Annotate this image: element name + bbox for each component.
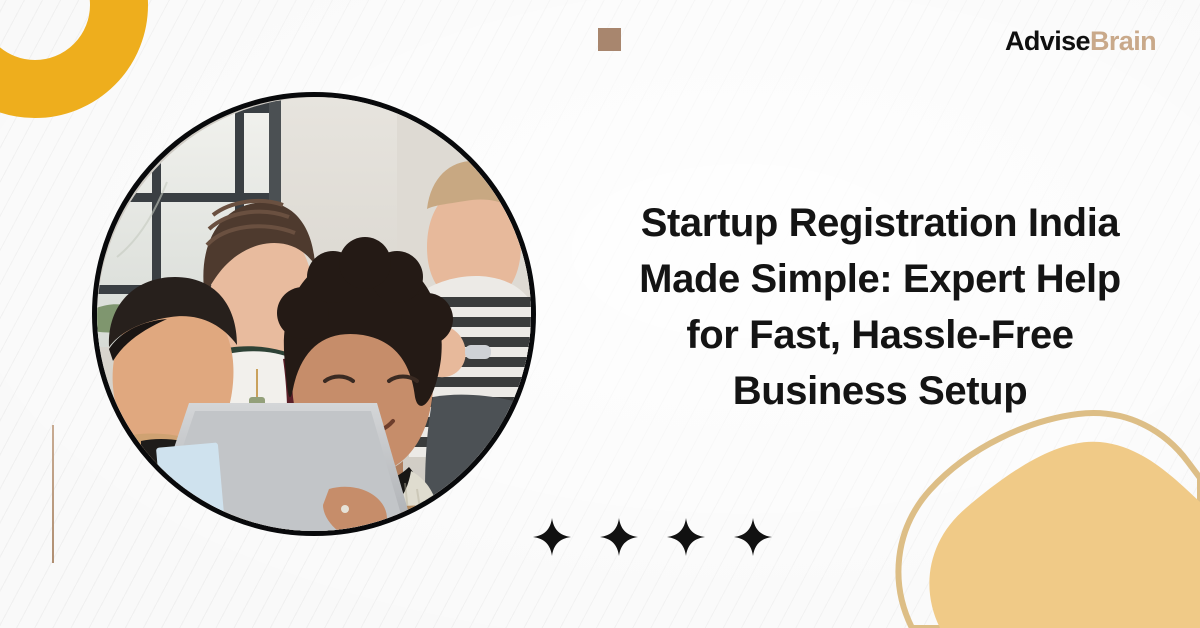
sparkle-row — [533, 514, 783, 560]
headline-line-1: Startup Registration India — [580, 195, 1180, 251]
brand-logo-secondary: Brain — [1090, 26, 1156, 56]
photo-illustration — [97, 97, 531, 531]
headline-line-4: Business Setup — [580, 363, 1180, 419]
brand-logo[interactable]: AdviseBrain — [1005, 26, 1156, 57]
page-title: Startup Registration India Made Simple: … — [580, 195, 1180, 419]
headline-line-3: for Fast, Hassle-Free — [580, 307, 1180, 363]
sparkle-icon — [667, 516, 705, 558]
sparkle-icon — [600, 516, 638, 558]
hero-photo — [92, 92, 536, 536]
headline-line-2: Made Simple: Expert Help — [580, 251, 1180, 307]
brand-logo-primary: Advise — [1005, 26, 1090, 56]
photo-scene — [97, 97, 531, 531]
brown-square-decoration — [598, 28, 621, 51]
banner-canvas: Startup Registration India Made Simple: … — [0, 0, 1200, 628]
left-accent-rule — [52, 425, 54, 563]
sparkle-icon — [734, 516, 772, 558]
sparkle-icon — [533, 516, 571, 558]
